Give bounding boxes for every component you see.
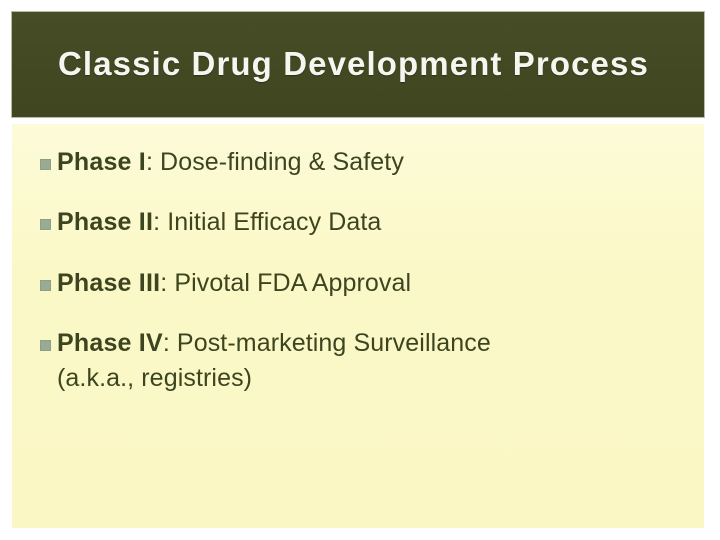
phase-separator: : [163, 329, 177, 357]
phase-list: Phase I: Dose-finding & Safety Phase II:… [28, 146, 688, 395]
phase-description: Dose-finding & Safety [160, 148, 404, 176]
slide-content-panel: Phase I: Dose-finding & Safety Phase II:… [11, 124, 705, 528]
slide: Classic Drug Development Process Phase I… [0, 0, 720, 540]
phase-label: Phase II [57, 208, 153, 236]
phase-separator: : [160, 269, 174, 297]
phase-description: Pivotal FDA Approval [174, 269, 411, 297]
list-item: Phase I: Dose-finding & Safety [28, 146, 688, 179]
slide-title-bar: Classic Drug Development Process [11, 11, 705, 118]
square-bullet-icon [40, 280, 51, 291]
phase-description: Post-marketing Surveillance [177, 329, 491, 357]
square-bullet-icon [40, 219, 51, 230]
list-item: Phase II: Initial Efficacy Data [28, 206, 688, 239]
page-title: Classic Drug Development Process [12, 46, 649, 82]
square-bullet-icon [40, 340, 51, 351]
phase-label: Phase I [57, 148, 146, 176]
list-item: Phase IV: Post-marketing Surveillance (a… [28, 327, 688, 396]
phase-label: Phase IV [57, 329, 163, 357]
phase-separator: : [146, 148, 160, 176]
square-bullet-icon [40, 159, 51, 170]
phase-label: Phase III [57, 269, 160, 297]
list-item: Phase III: Pivotal FDA Approval [28, 267, 688, 300]
phase-separator: : [153, 208, 167, 236]
phase-description: Initial Efficacy Data [167, 208, 381, 236]
phase-continuation: (a.k.a., registries) [57, 362, 688, 395]
